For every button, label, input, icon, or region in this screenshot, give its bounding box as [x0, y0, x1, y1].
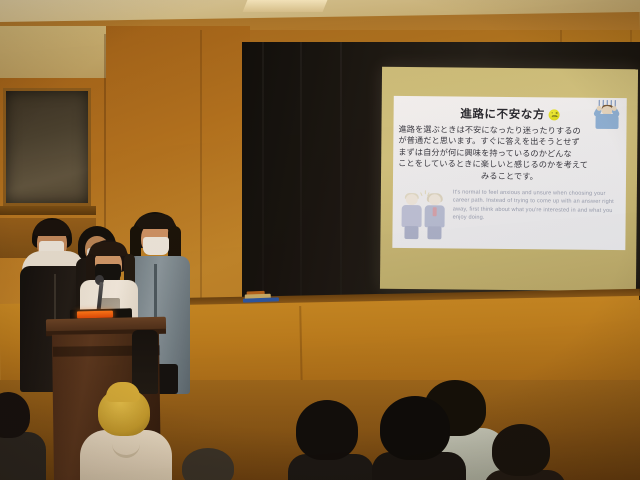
standing-figure-silhouette: [132, 330, 158, 394]
left-wall-upper-step: [0, 26, 106, 78]
stacked-books-on-stage-edge: [243, 297, 279, 307]
student-figure-right: [424, 194, 444, 240]
window-sill: [0, 206, 96, 215]
emoji-mouth: [552, 116, 558, 118]
figure-legs: [404, 226, 418, 239]
figure-head: [429, 194, 441, 205]
audience-head-center-right: [296, 400, 376, 480]
sparkle-marks: [421, 190, 429, 198]
dark-window-panel: [3, 88, 91, 206]
audience-head-far-right: [492, 424, 564, 480]
audience-head-right-front: [376, 392, 464, 480]
head: [0, 392, 30, 438]
jp-line-4: ことをしているときに楽しいと感じるのかを考えて: [398, 158, 588, 170]
head: [380, 396, 450, 460]
jp-line-2: が普通だと思います。すぐに答えを出そうとせず: [398, 135, 580, 147]
face-mask: [143, 237, 169, 255]
worried-face-emoji: [549, 109, 560, 120]
projection-screen: 進路に不安な方 進路を選ぶときは不安になったり迷ったりするの: [380, 67, 638, 291]
slide-content-card: 進路に不安な方 進路を選ぶときは不安になったり迷ったりするの: [392, 96, 626, 250]
figure-legs: [427, 226, 441, 239]
slide-english-body: It's normal to feel anxious and unsure w…: [453, 188, 620, 223]
figure-head: [406, 194, 418, 205]
hair-bun: [106, 382, 140, 402]
figure-ribbon: [433, 207, 437, 216]
hair-front: [89, 242, 127, 256]
icon-hand-right: [612, 106, 617, 111]
hair-front: [34, 220, 70, 236]
curtain-fold: [340, 42, 342, 300]
jp-line-3: まずは自分が何に興味を持っているのかどんな: [398, 147, 572, 159]
audience-head-left-edge: [0, 392, 42, 480]
audience-head-blonde-hoodie: [82, 388, 168, 480]
jp-line-5: みることです。: [398, 170, 621, 184]
head: [182, 448, 234, 480]
figure-torso: [402, 205, 422, 227]
head: [296, 400, 358, 460]
student-figure-left: [401, 194, 421, 240]
slide-bottom-section: It's normal to feel anxious and unsure w…: [396, 186, 622, 246]
head: [492, 424, 550, 476]
slide-japanese-body: 進路を選ぶときは不安になったり迷ったりするの が普通だと思います。すぐに答えを出…: [398, 124, 622, 183]
curtain-fold: [262, 42, 264, 300]
curtain-fold: [300, 42, 302, 300]
jp-line-1: 進路を選ぶときは不安になったり迷ったりするの: [398, 124, 580, 136]
auditorium-presentation-photo: 進路に不安な方 進路を選ぶときは不安になったり迷ったりするの: [0, 0, 640, 480]
shoulders: [0, 432, 46, 480]
slide-title: 進路に不安な方: [460, 106, 545, 123]
audience-head-bottom-center: [182, 448, 258, 480]
icon-hand-left: [597, 106, 602, 111]
two-students-icon: [400, 188, 448, 240]
ceiling-light-fixture: [243, 0, 328, 12]
